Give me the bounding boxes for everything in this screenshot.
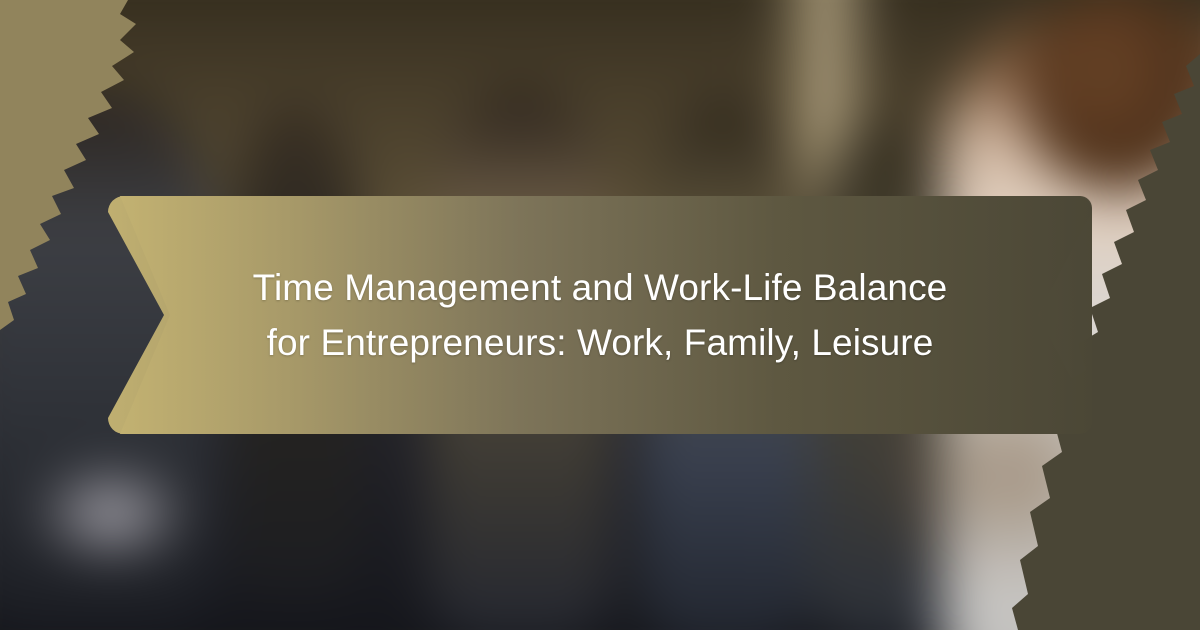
share-card-canvas: Time Management and Work-Life Balance fo… — [0, 0, 1200, 630]
page-title: Time Management and Work-Life Balance fo… — [226, 260, 974, 371]
title-banner: Time Management and Work-Life Balance fo… — [108, 196, 1092, 434]
title-banner-label: Time Management and Work-Life Balance fo… — [108, 196, 1092, 434]
